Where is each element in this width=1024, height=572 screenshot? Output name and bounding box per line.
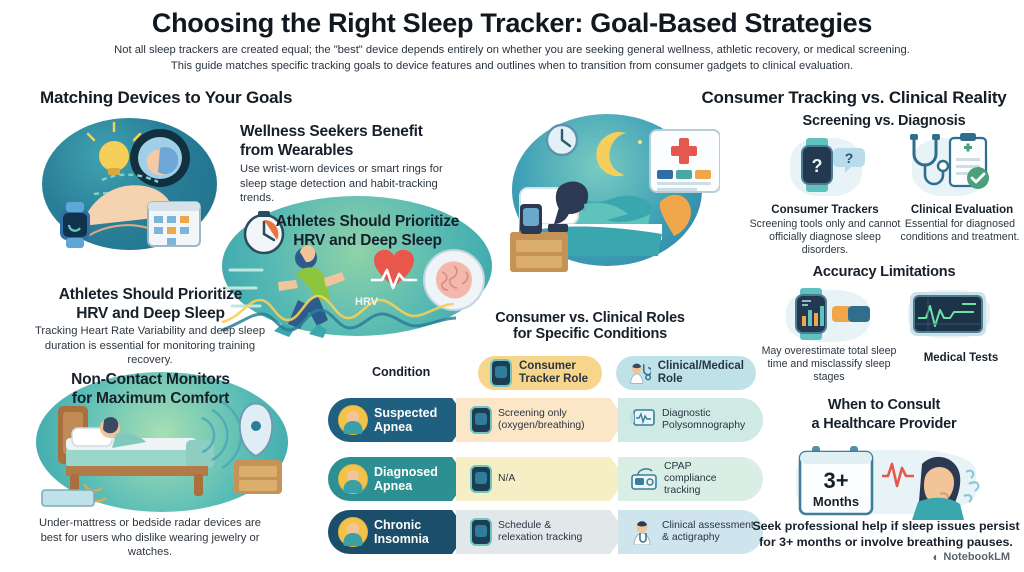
page-subtitle: Not all sleep trackers are created equal… <box>90 42 934 74</box>
smartwatch-question-icon: ? ? <box>790 134 870 196</box>
condition-line-2: Apnea <box>374 479 438 493</box>
doctor-stethoscope-icon <box>628 360 651 386</box>
column-header-consumer[interactable]: Consumer Tracker Role <box>478 356 602 390</box>
doctor-icon <box>630 519 656 545</box>
svg-text:?: ? <box>812 156 823 176</box>
condition-line-2: Insomnia <box>374 532 429 546</box>
wellness-title-line-2: from Wearables <box>240 141 455 160</box>
noncontact-block-title: Non-Contact Monitors for Maximum Comfort <box>38 370 263 408</box>
noncontact-title-line-1: Non-Contact Monitors <box>38 370 263 389</box>
monitor-waveform-icon <box>630 408 656 432</box>
table-row[interactable]: Suspected Apnea Screening only (oxygen/b… <box>328 398 758 442</box>
clinical-text: Clinical assessment & actigraphy <box>662 520 754 544</box>
clinical-evaluation-body: Essential for diagnosed conditions and t… <box>896 218 1024 244</box>
medical-tests-caption: Medical Tests <box>898 351 1024 365</box>
clinical-text: Diagnostic Polysomnography <box>662 408 745 432</box>
clinical-line-1: Diagnostic <box>662 408 745 420</box>
consult-badge-number: 3+ <box>823 468 848 493</box>
athlete-title-line-2: HRV and Deep Sleep <box>260 231 475 250</box>
condition-line-1: Chronic <box>374 518 429 532</box>
infographic-canvas: Choosing the Right Sleep Tracker: Goal-B… <box>0 0 1024 572</box>
smartwatch-icon <box>470 406 492 434</box>
condition-line-2: Apnea <box>374 420 437 434</box>
smartwatch-icon <box>470 518 492 546</box>
athlete-title-line-1: Athletes Should Prioritize <box>260 212 475 231</box>
clinical-line-2: compliance <box>664 473 717 485</box>
row-condition-cell: Diagnosed Apnea <box>328 457 468 501</box>
athlete-title-dup-line-2: HRV and Deep Sleep <box>38 304 263 323</box>
table-heading: Consumer vs. Clinical Roles for Specific… <box>440 310 740 342</box>
condition-text: Suspected Apnea <box>374 406 437 434</box>
table-row[interactable]: Diagnosed Apnea N/A CPAP compliance trac… <box>328 457 758 501</box>
consumer-text: Schedule & relexation tracking <box>498 520 582 544</box>
consult-heading-line-1: When to Consult <box>752 396 1016 415</box>
clinical-line-2: Polysomnography <box>662 420 745 432</box>
ecg-monitor-icon <box>904 288 994 342</box>
row-clinical-cell: CPAP compliance tracking <box>618 457 763 501</box>
condition-line-1: Suspected <box>374 406 437 420</box>
condition-line-1: Diagnosed <box>374 465 438 479</box>
row-condition-cell: Suspected Apnea <box>328 398 468 442</box>
wellness-title-line-1: Wellness Seekers Benefit <box>240 122 455 141</box>
clinical-header-text: Clinical/Medical Role <box>658 360 744 386</box>
smartwatch-icon <box>490 359 512 387</box>
table-heading-line-1: Consumer vs. Clinical Roles <box>440 310 740 326</box>
consumer-line-2: relexation tracking <box>498 532 582 544</box>
row-condition-cell: Chronic Insomnia <box>328 510 468 554</box>
consumer-trackers-caption: Consumer Trackers <box>750 203 900 217</box>
left-section-heading: Matching Devices to Your Goals <box>40 88 292 108</box>
consumer-header-text: Consumer Tracker Role <box>519 360 588 386</box>
notebooklm-watermark: ◖ NotebookLM <box>931 550 1010 564</box>
sleeping-person-medical-chart-icon <box>500 112 720 278</box>
right-section-heading: Consumer Tracking vs. Clinical Reality <box>684 88 1024 108</box>
subtitle-line-2: This guide matches specific tracking goa… <box>90 58 934 74</box>
table-heading-line-2: for Specific Conditions <box>440 326 740 342</box>
athlete-block-body: Tracking Heart Rate Variability and deep… <box>34 324 266 368</box>
consumer-header-line-2: Tracker Role <box>519 373 588 386</box>
subtitle-line-1: Not all sleep trackers are created equal… <box>90 42 934 58</box>
notebooklm-label: NotebookLM <box>943 551 1010 563</box>
table-row[interactable]: Chronic Insomnia Schedule & relexation t… <box>328 510 758 554</box>
consumer-line-1: N/A <box>498 473 515 485</box>
column-header-clinical[interactable]: Clinical/Medical Role <box>616 356 756 390</box>
smartwatch-chart-icon <box>786 286 878 344</box>
consult-heading-line-2: a Healthcare Provider <box>752 415 1016 434</box>
person-question-icon <box>338 405 368 435</box>
cpap-machine-icon <box>630 467 658 491</box>
screening-sub-heading: Screening vs. Diagnosis <box>752 113 1016 129</box>
consumer-text: Screening only (oxygen/breathing) <box>498 408 585 432</box>
clinical-line-2: & actigraphy <box>662 532 754 544</box>
column-header-condition: Condition <box>372 365 430 379</box>
consumer-line-1: Schedule & <box>498 520 582 532</box>
consult-sub-heading: When to Consult a Healthcare Provider <box>752 396 1016 434</box>
clinical-header-line-1: Clinical/Medical <box>658 360 744 373</box>
noncontact-title-line-2: for Maximum Comfort <box>38 389 263 408</box>
person-check-icon <box>338 464 368 494</box>
condition-text: Chronic Insomnia <box>374 518 429 546</box>
athlete-block-title: Athletes Should Prioritize HRV and Deep … <box>38 285 263 323</box>
person-clock-icon <box>338 517 368 547</box>
clinical-line-3: tracking <box>664 485 717 497</box>
consumer-line-1: Screening only <box>498 408 585 420</box>
smartwatch-icon <box>470 465 492 493</box>
wellness-block-title: Wellness Seekers Benefit from Wearables <box>240 122 455 160</box>
hand-with-smartwatch-and-ring-icon <box>42 118 222 254</box>
consult-badge-unit: Months <box>813 494 859 509</box>
consult-body: Seek professional help if sleep issues p… <box>748 518 1024 550</box>
stethoscope-clipboard-check-icon <box>906 132 992 198</box>
consumer-header-line-1: Consumer <box>519 360 588 373</box>
accuracy-sub-heading: Accuracy Limitations <box>752 264 1016 280</box>
row-consumer-cell: Schedule & relexation tracking <box>456 510 626 554</box>
athlete-title-dup-line-1: Athletes Should Prioritize <box>38 285 263 304</box>
hrv-overlay-label: HRV <box>355 296 378 308</box>
notebooklm-glyph-icon: ◖ <box>931 550 938 564</box>
row-consumer-cell: N/A <box>456 457 626 501</box>
row-clinical-cell: Clinical assessment & actigraphy <box>618 510 763 554</box>
consumer-trackers-body: Screening tools only and cannot official… <box>748 218 902 257</box>
clinical-text: CPAP compliance tracking <box>664 461 717 497</box>
clinical-line-1: Clinical assessment <box>662 520 754 532</box>
accuracy-limitations-body: May overestimate total sleep time and mi… <box>752 345 906 384</box>
row-consumer-cell: Screening only (oxygen/breathing) <box>456 398 626 442</box>
athlete-block-title-overlay: Athletes Should Prioritize HRV and Deep … <box>260 212 475 250</box>
noncontact-block-body: Under-mattress or bedside radar devices … <box>34 516 266 560</box>
row-clinical-cell: Diagnostic Polysomnography <box>618 398 763 442</box>
consumer-line-2: (oxygen/breathing) <box>498 420 585 432</box>
clinical-line-1: CPAP <box>664 461 717 473</box>
clinical-header-line-2: Role <box>658 373 744 386</box>
condition-text: Diagnosed Apnea <box>374 465 438 493</box>
svg-text:?: ? <box>845 150 854 166</box>
page-title: Choosing the Right Sleep Tracker: Goal-B… <box>0 8 1024 39</box>
calendar-person-breathing-icon: 3+ Months <box>790 442 986 520</box>
clinical-evaluation-caption: Clinical Evaluation <box>900 203 1024 217</box>
